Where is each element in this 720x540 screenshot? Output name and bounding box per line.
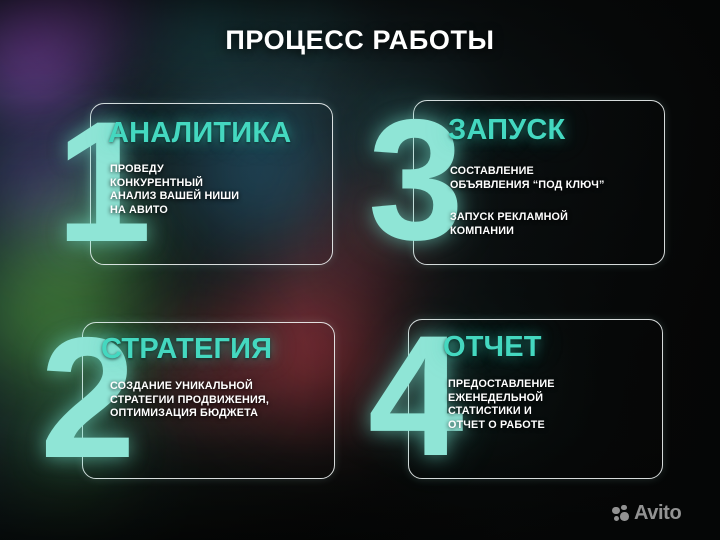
- step-heading-4: ОТЧЕТ: [443, 331, 542, 364]
- page-title: ПРОЦЕСС РАБОТЫ: [0, 25, 720, 56]
- slide-canvas: ПРОЦЕСС РАБОТЫ 1 АНАЛИТИКА ПРОВЕДУ КОНКУ…: [0, 0, 720, 540]
- step-heading-3: ЗАПУСК: [448, 114, 565, 147]
- avito-dots-icon: [612, 505, 629, 522]
- avito-brand-label: Avito: [634, 503, 681, 523]
- step-body-3-secondary: ЗАПУСК РЕКЛАМНОЙ КОМПАНИИ: [450, 211, 568, 238]
- step-body-2: СОЗДАНИЕ УНИКАЛЬНОЙ СТРАТЕГИИ ПРОДВИЖЕНИ…: [110, 380, 269, 421]
- step-heading-1: АНАЛИТИКА: [108, 117, 291, 150]
- step-body-3: СОСТАВЛЕНИЕ ОБЪЯВЛЕНИЯ “ПОД КЛЮЧ”: [450, 165, 605, 192]
- avito-watermark: Avito: [612, 503, 681, 523]
- step-body-1: ПРОВЕДУ КОНКУРЕНТНЫЙ АНАЛИЗ ВАШЕЙ НИШИ Н…: [110, 163, 239, 217]
- step-number-3: 3: [368, 94, 460, 266]
- step-heading-2: СТРАТЕГИЯ: [101, 333, 272, 366]
- step-body-4: ПРЕДОСТАВЛЕНИЕ ЕЖЕНЕДЕЛЬНОЙ СТАТИСТИКИ И…: [448, 378, 555, 432]
